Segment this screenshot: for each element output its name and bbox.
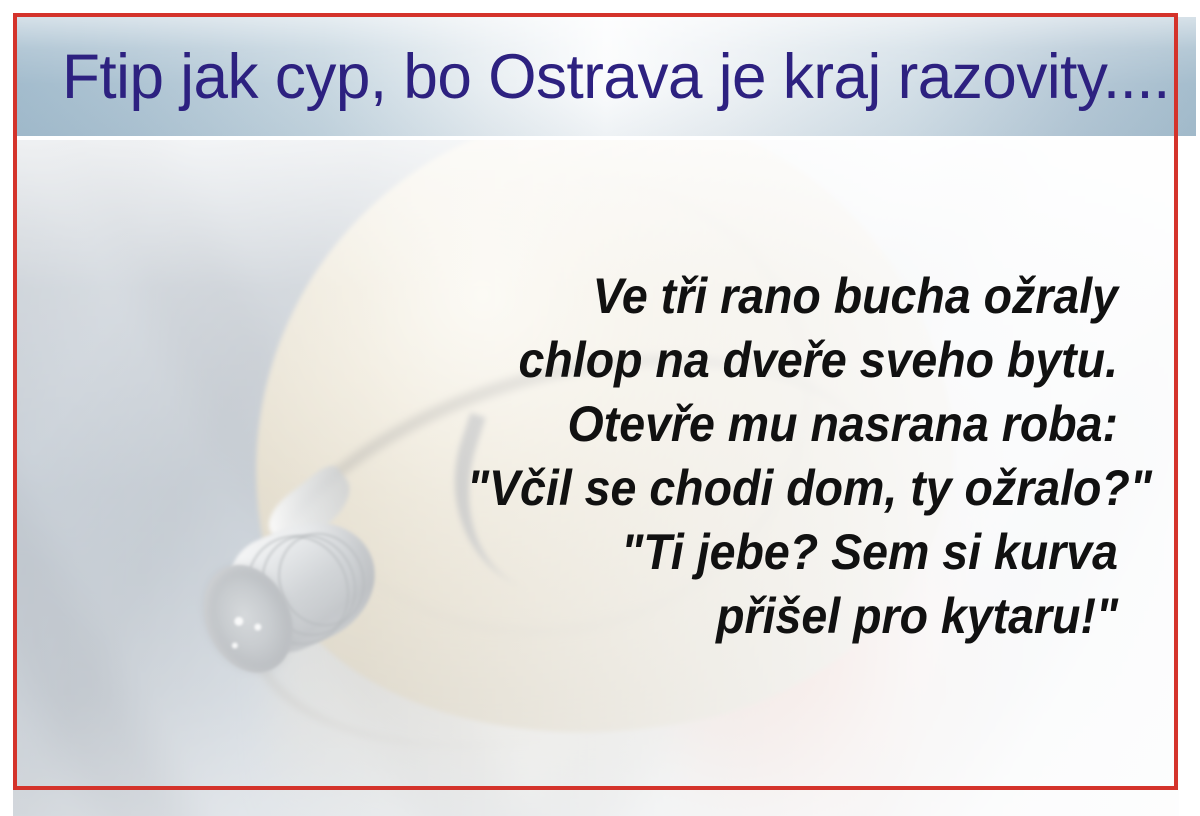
image-canvas: Ve tři rano bucha ožraly chlop na dveře … [0,0,1200,816]
joke-line-3: Otevře mu nasrana roba: [467,392,1118,456]
title-banner: Ftip jak cyp, bo Ostrava je kraj razovit… [16,17,1196,138]
joke-line-6: přišel pro kytaru!" [467,584,1118,648]
joke-line-5: "Ti jebe? Sem si kurva [467,520,1118,584]
joke-text-block: Ve tři rano bucha ožraly chlop na dveře … [467,264,1118,648]
page-title: Ftip jak cyp, bo Ostrava je kraj razovit… [62,44,1170,110]
joke-line-1: Ve tři rano bucha ožraly [467,264,1118,328]
banner-separator [16,136,1196,140]
joke-line-4: "Včil se chodi dom, ty ožralo?" [467,456,1118,520]
joke-line-2: chlop na dveře sveho bytu. [467,328,1118,392]
